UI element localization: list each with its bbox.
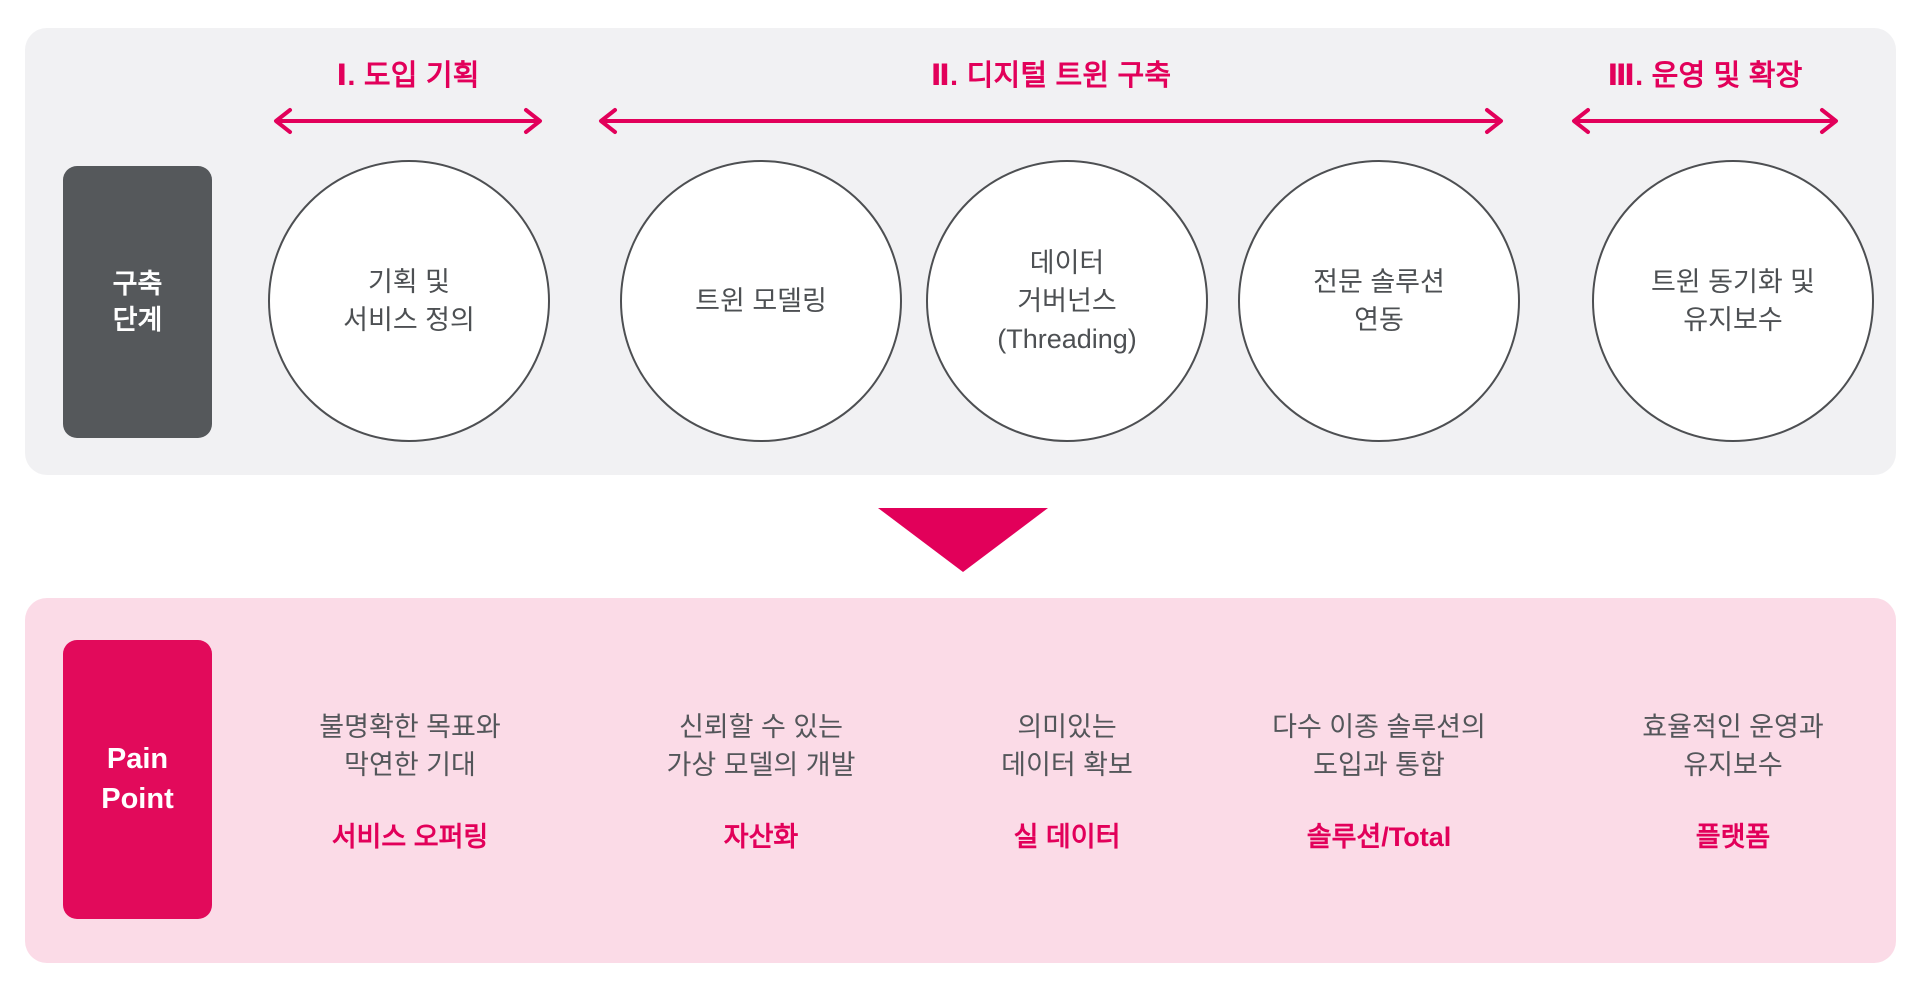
pain-point-description-2: 신뢰할 수 있는 가상 모델의 개발 xyxy=(616,708,906,785)
pain-point-description-4: 다수 이종 솔루션의 도입과 통합 xyxy=(1234,708,1524,785)
step-circle-5-label: 트윈 동기화 및 유지보수 xyxy=(1635,263,1831,340)
pain-point-description-1: 불명확한 목표와 막연한 기대 xyxy=(265,708,555,785)
pain-point-item-1: 불명확한 목표와 막연한 기대 서비스 오퍼링 xyxy=(265,708,555,854)
pain-point-tag-3: 실 데이터 xyxy=(922,815,1212,854)
step-circle-1[interactable]: 기획 및 서비스 정의 xyxy=(268,160,550,442)
pain-point-tag-5: 플랫폼 xyxy=(1588,815,1878,854)
pain-point-item-3: 의미있는 데이터 확보 실 데이터 xyxy=(922,708,1212,854)
pain-point-side-label-text: Pain Point xyxy=(101,740,174,818)
step-circle-1-label: 기획 및 서비스 정의 xyxy=(327,263,491,340)
phase-bracket-1: Ⅰ. 도입 기획 xyxy=(270,52,546,142)
pain-point-item-2: 신뢰할 수 있는 가상 모델의 개발 자산화 xyxy=(616,708,906,854)
phase-arrow-3 xyxy=(1568,108,1842,134)
pain-point-side-label: Pain Point xyxy=(63,640,212,919)
down-triangle-arrow-icon xyxy=(878,508,1048,572)
phase-bracket-3: Ⅲ. 운영 및 확장 xyxy=(1568,52,1842,142)
pain-point-item-5: 효율적인 운영과 유지보수 플랫폼 xyxy=(1588,708,1878,854)
step-circle-5[interactable]: 트윈 동기화 및 유지보수 xyxy=(1592,160,1874,442)
pain-point-description-3: 의미있는 데이터 확보 xyxy=(922,708,1212,785)
step-circle-4[interactable]: 전문 솔루션 연동 xyxy=(1238,160,1520,442)
phase-title-1: Ⅰ. 도입 기획 xyxy=(270,52,546,94)
pain-point-tag-4: 솔루션/Total xyxy=(1234,815,1524,854)
diagram-canvas: Ⅰ. 도입 기획 Ⅱ. 디지털 트윈 구축 Ⅲ. 운영 및 확장 xyxy=(0,0,1920,995)
step-circle-3-label: 데이터 거버넌스 (Threading) xyxy=(981,244,1153,359)
pain-point-description-5: 효율적인 운영과 유지보수 xyxy=(1588,708,1878,785)
step-circle-3[interactable]: 데이터 거버넌스 (Threading) xyxy=(926,160,1208,442)
step-circle-2-label: 트윈 모델링 xyxy=(679,282,843,320)
stage-side-label-text: 구축 단계 xyxy=(113,266,163,339)
step-circle-2[interactable]: 트윈 모델링 xyxy=(620,160,902,442)
pain-point-item-4: 다수 이종 솔루션의 도입과 통합 솔루션/Total xyxy=(1234,708,1524,854)
pain-point-tag-1: 서비스 오퍼링 xyxy=(265,815,555,854)
phase-arrow-2 xyxy=(595,108,1507,134)
phase-title-3: Ⅲ. 운영 및 확장 xyxy=(1568,52,1842,94)
stage-side-label: 구축 단계 xyxy=(63,166,212,438)
phase-arrow-1 xyxy=(270,108,546,134)
phase-title-2: Ⅱ. 디지털 트윈 구축 xyxy=(595,52,1507,94)
phase-bracket-2: Ⅱ. 디지털 트윈 구축 xyxy=(595,52,1507,142)
step-circle-4-label: 전문 솔루션 연동 xyxy=(1297,263,1461,340)
pain-point-tag-2: 자산화 xyxy=(616,815,906,854)
